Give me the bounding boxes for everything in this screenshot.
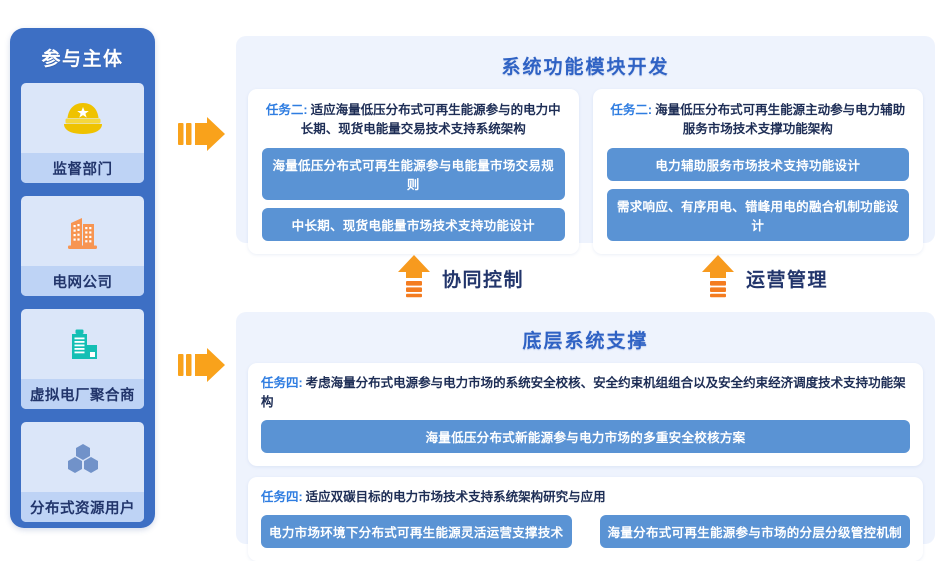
task-pill-row: 电力市场环境下分布式可再生能源灵活运营支撑技术 海量分布式可再生能源参与市场的分…	[261, 515, 910, 548]
task-pill[interactable]: 电力辅助服务市场技术支持功能设计	[607, 148, 910, 181]
task-pill[interactable]: 海量分布式可再生能源参与市场的分层分级管控机制	[600, 515, 911, 548]
sidebar-item-label: 电网公司	[21, 266, 144, 296]
top-card-list: 任务二:适应海量低压分布式可再生能源参与的电力中长期、现货电能量交易技术支持系统…	[248, 89, 923, 254]
task-pill[interactable]: 海量低压分布式可再生能源参与电能量市场交易规则	[262, 148, 565, 200]
task-card[interactable]: 任务二:海量低压分布式可再生能源主动参与电力辅助服务市场技术支撑功能架构 电力辅…	[593, 89, 924, 254]
task-description: 海量低压分布式可再生能源主动参与电力辅助服务市场技术支撑功能架构	[655, 103, 905, 136]
middle-connector-row: 协同控制 运营管理	[236, 252, 935, 308]
sidebar-item-der-users[interactable]: 分布式资源用户	[21, 422, 144, 522]
sidebar-item-label: 虚拟电厂聚合商	[21, 379, 144, 409]
task-card-heading: 任务二:海量低压分布式可再生能源主动参与电力辅助服务市场技术支撑功能架构	[607, 101, 910, 139]
participants-sidebar: 参与主体 监督部门	[10, 28, 155, 528]
task-pill[interactable]: 需求响应、有序用电、错峰用电的融合机制功能设计	[607, 189, 910, 241]
connector-label: 协同控制	[442, 265, 524, 292]
connector-group: 协同控制	[397, 254, 524, 303]
task-card-heading: 任务四:适应双碳目标的电力市场技术支持系统架构研究与应用	[261, 488, 910, 507]
task-pill[interactable]: 海量低压分布式新能源参与电力市场的多重安全校核方案	[261, 420, 910, 453]
task-card[interactable]: 任务四:适应双碳目标的电力市场技术支持系统架构研究与应用 电力市场环境下分布式可…	[248, 477, 923, 561]
task-description: 考虑海量分布式电源参与电力市场的系统安全校核、安全约束机组组合以及安全约束经济调…	[261, 376, 906, 409]
sidebar-item-regulator[interactable]: 监督部门	[21, 83, 144, 183]
underlying-system-support-panel: 底层系统支撑 任务四:考虑海量分布式电源参与电力市场的系统安全校核、安全约束机组…	[236, 312, 935, 544]
office-building-icon	[21, 196, 144, 266]
sidebar-item-grid-company[interactable]: 电网公司	[21, 196, 144, 296]
task-label: 任务二:	[266, 103, 308, 117]
task-card-heading: 任务四:考虑海量分布式电源参与电力市场的系统安全校核、安全约束机组组合以及安全约…	[261, 374, 910, 412]
task-label: 任务二:	[610, 103, 652, 117]
power-plant-icon	[21, 309, 144, 379]
up-arrow-stack-icon	[397, 254, 431, 303]
task-card[interactable]: 任务四:考虑海量分布式电源参与电力市场的系统安全校核、安全约束机组组合以及安全约…	[248, 363, 923, 466]
task-description: 适应双碳目标的电力市场技术支持系统架构研究与应用	[306, 490, 606, 504]
task-pill[interactable]: 中长期、现货电能量市场技术支持功能设计	[262, 208, 565, 241]
task-label: 任务四:	[261, 376, 303, 390]
hexagon-cluster-icon	[21, 422, 144, 492]
motion-right-arrow-icon	[176, 344, 228, 386]
sidebar-item-label: 分布式资源用户	[21, 492, 144, 522]
sidebar-item-vpp-aggregator[interactable]: 虚拟电厂聚合商	[21, 309, 144, 409]
panel-title: 系统功能模块开发	[248, 52, 923, 79]
motion-right-arrow-icon	[176, 113, 228, 155]
task-card-heading: 任务二:适应海量低压分布式可再生能源参与的电力中长期、现货电能量交易技术支持系统…	[262, 101, 565, 139]
task-card[interactable]: 任务二:适应海量低压分布式可再生能源参与的电力中长期、现货电能量交易技术支持系统…	[248, 89, 579, 254]
police-cap-icon	[21, 83, 144, 153]
up-arrow-stack-icon	[701, 254, 735, 303]
connector-group: 运营管理	[701, 254, 828, 303]
sidebar-title: 参与主体	[41, 44, 123, 71]
connector-label: 运营管理	[746, 265, 828, 292]
sidebar-item-label: 监督部门	[21, 153, 144, 183]
task-description: 适应海量低压分布式可再生能源参与的电力中长期、现货电能量交易技术支持系统架构	[301, 103, 561, 136]
task-pill[interactable]: 电力市场环境下分布式可再生能源灵活运营支撑技术	[261, 515, 572, 548]
system-function-module-panel: 系统功能模块开发 任务二:适应海量低压分布式可再生能源参与的电力中长期、现货电能…	[236, 36, 935, 243]
panel-title: 底层系统支撑	[248, 326, 923, 353]
task-label: 任务四:	[261, 490, 303, 504]
